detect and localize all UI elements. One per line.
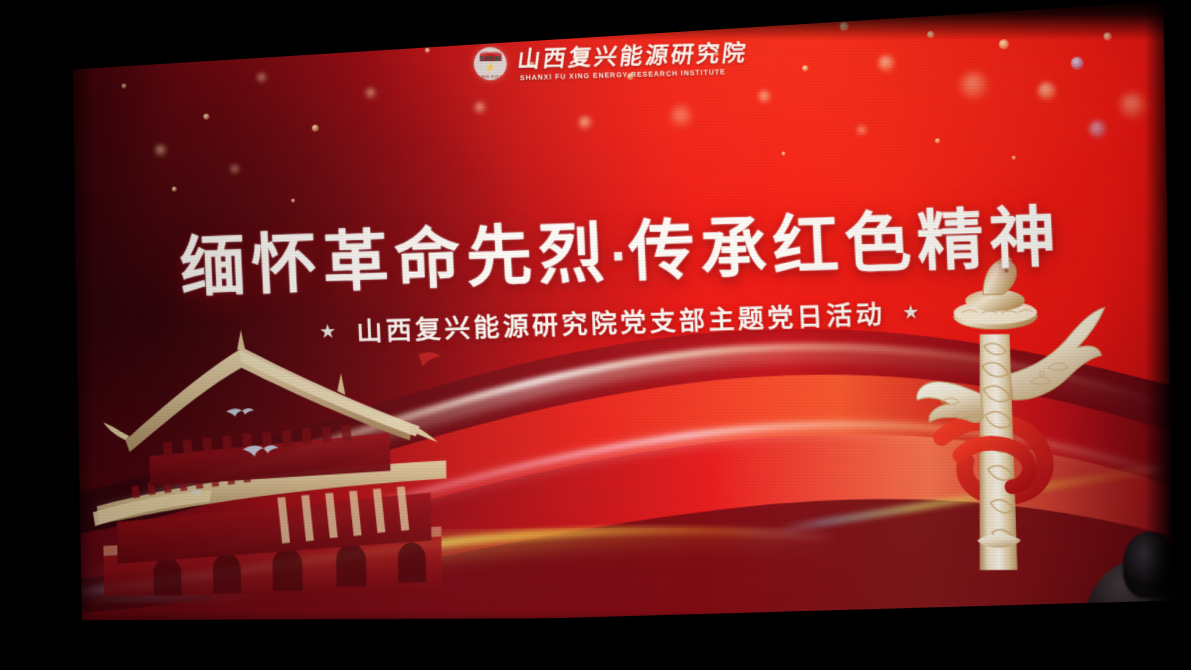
- headline-part-2: 传承红色精神: [627, 198, 1064, 290]
- headline-part-1: 缅怀革命先烈: [178, 214, 611, 306]
- tiananmen-gate-icon: [90, 313, 453, 596]
- sfer-mark-text: SFER: [479, 56, 501, 64]
- badge-arc-text: SHANXI FUXING: [475, 75, 505, 79]
- lightning-bolt-icon: ⚡: [485, 65, 495, 73]
- institute-name-block: 山西复兴能源研究院 SHANXI FU XING ENERGY RESEARCH…: [517, 45, 747, 80]
- sfer-badge-icon: SFER ⚡ SHANXI FUXING: [474, 48, 507, 81]
- headline-separator: ·: [609, 231, 630, 283]
- photo-scene: SFER ⚡ SHANXI FUXING 山西复兴能源研究院 SHANXI FU…: [0, 0, 1191, 670]
- led-screen: SFER ⚡ SHANXI FUXING 山西复兴能源研究院 SHANXI FU…: [72, 1, 1174, 621]
- star-right-icon: ★: [902, 301, 923, 324]
- screen-surface: SFER ⚡ SHANXI FUXING 山西复兴能源研究院 SHANXI FU…: [72, 1, 1174, 621]
- institute-logo-lockup: SFER ⚡ SHANXI FUXING 山西复兴能源研究院 SHANXI FU…: [474, 45, 748, 81]
- huabiao-column-icon: [912, 235, 1127, 580]
- audience-silhouette-icon: [1123, 532, 1177, 598]
- star-left-icon: ★: [319, 320, 340, 343]
